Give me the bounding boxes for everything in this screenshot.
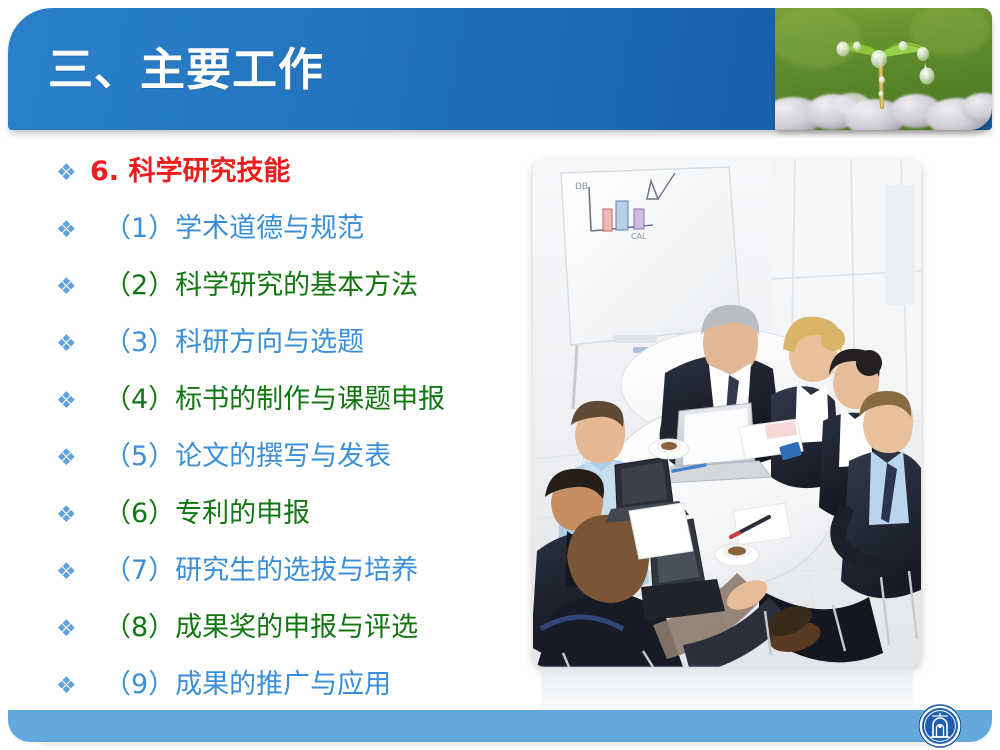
slide-footer-band (8, 710, 992, 742)
bullet-item-1: ❖6. 科学研究技能 (56, 158, 526, 215)
business-meeting-illustration: DB CAL (533, 159, 921, 667)
bullet-item-8: ❖（7）研究生的选拔与培养 (56, 557, 526, 614)
sprout-with-water-droplets-photo (775, 8, 992, 130)
coffee-cup-bottom (715, 544, 759, 566)
diamond-bullet-icon: ❖ (56, 390, 90, 413)
bullet-item-9: ❖（8）成果奖的申报与评选 (56, 614, 526, 671)
bullet-item-label: （1）学术道德与规范 (90, 215, 526, 242)
diamond-bullet-icon: ❖ (56, 504, 90, 527)
diamond-bullet-icon: ❖ (56, 276, 90, 299)
bullet-item-label: （7）研究生的选拔与培养 (90, 557, 526, 584)
diamond-bullet-icon: ❖ (56, 219, 90, 242)
footer-shadow (40, 742, 950, 748)
diamond-bullet-icon: ❖ (56, 333, 90, 356)
bullet-item-label: （2）科学研究的基本方法 (90, 272, 526, 299)
presentation-slide: 三、主要工作 (0, 0, 1000, 750)
bullet-item-2: ❖（1）学术道德与规范 (56, 215, 526, 272)
bullet-item-7: ❖（6）专利的申报 (56, 500, 526, 557)
business-meeting-photo-container: DB CAL (533, 159, 921, 667)
bullet-item-label: （9）成果的推广与应用 (90, 671, 526, 698)
sprout-illustration (775, 8, 992, 130)
slide-title: 三、主要工作 (48, 42, 324, 98)
emblem-icon (917, 703, 963, 749)
university-emblem-logo (917, 703, 963, 749)
diamond-bullet-icon: ❖ (56, 447, 90, 470)
diamond-bullet-icon: ❖ (56, 561, 90, 584)
bullet-item-label: （4）标书的制作与课题申报 (90, 386, 526, 413)
bullet-item-label: （8）成果奖的申报与评选 (90, 614, 526, 641)
bullet-list: ❖6. 科学研究技能❖（1）学术道德与规范❖（2）科学研究的基本方法❖（3）科研… (56, 158, 526, 728)
bullet-item-5: ❖（4）标书的制作与课题申报 (56, 386, 526, 443)
bullet-item-label: 6. 科学研究技能 (90, 158, 526, 185)
diamond-bullet-icon: ❖ (56, 675, 90, 698)
diamond-bullet-icon: ❖ (56, 618, 90, 641)
diamond-bullet-icon: ❖ (56, 162, 90, 185)
bullet-item-4: ❖（3）科研方向与选题 (56, 329, 526, 386)
bullet-item-6: ❖（5）论文的撰写与发表 (56, 443, 526, 500)
bullet-item-3: ❖（2）科学研究的基本方法 (56, 272, 526, 329)
whiteboard-label-cal: CAL (631, 232, 647, 241)
bullet-item-label: （5）论文的撰写与发表 (90, 443, 526, 470)
bullet-item-label: （3）科研方向与选题 (90, 329, 526, 356)
business-meeting-photo: DB CAL (533, 159, 921, 667)
coffee-cup-top (649, 439, 689, 459)
bullet-item-label: （6）专利的申报 (90, 500, 526, 527)
whiteboard-label-db: DB (575, 182, 588, 192)
